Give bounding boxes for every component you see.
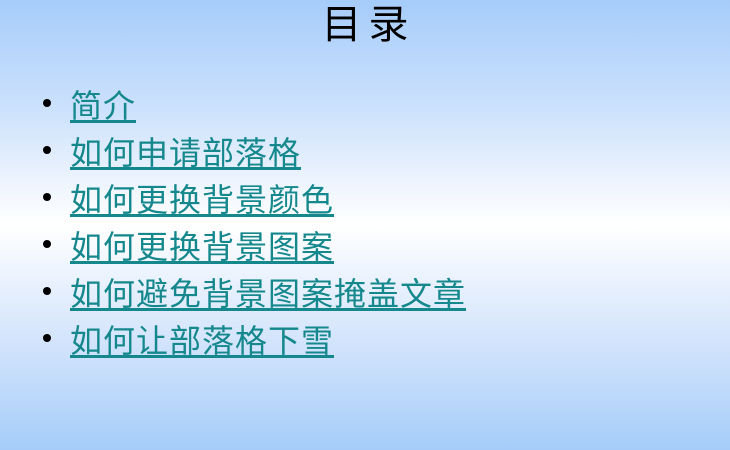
page-title: 目录 <box>315 2 416 48</box>
list-item[interactable]: 简介 <box>0 82 730 129</box>
bullet-icon <box>43 193 51 201</box>
toc-link-change-background-pattern[interactable]: 如何更换背景图案 <box>70 227 334 267</box>
toc-link-change-background-color[interactable]: 如何更换背景颜色 <box>70 180 334 220</box>
list-item[interactable]: 如何让部落格下雪 <box>0 317 730 364</box>
bullet-icon <box>43 146 51 154</box>
presentation-slide: 目录 简介 如何申请部落格 如何更换背景颜色 如何更换背景图案 如何避免背景图案… <box>0 0 730 450</box>
bullet-icon <box>43 240 51 248</box>
toc-link-avoid-pattern-covering-text[interactable]: 如何避免背景图案掩盖文章 <box>70 274 466 314</box>
bullet-icon <box>43 334 51 342</box>
list-item[interactable]: 如何避免背景图案掩盖文章 <box>0 270 730 317</box>
bullet-icon <box>43 287 51 295</box>
list-item[interactable]: 如何更换背景图案 <box>0 223 730 270</box>
list-item[interactable]: 如何申请部落格 <box>0 129 730 176</box>
table-of-contents-list: 简介 如何申请部落格 如何更换背景颜色 如何更换背景图案 如何避免背景图案掩盖文… <box>0 82 730 364</box>
bullet-icon <box>43 99 51 107</box>
toc-link-make-blog-snow[interactable]: 如何让部落格下雪 <box>70 321 334 361</box>
toc-link-intro[interactable]: 简介 <box>70 86 136 126</box>
toc-link-apply-blog[interactable]: 如何申请部落格 <box>70 133 301 173</box>
slide-title-block: 目录 <box>0 2 730 48</box>
list-item[interactable]: 如何更换背景颜色 <box>0 176 730 223</box>
